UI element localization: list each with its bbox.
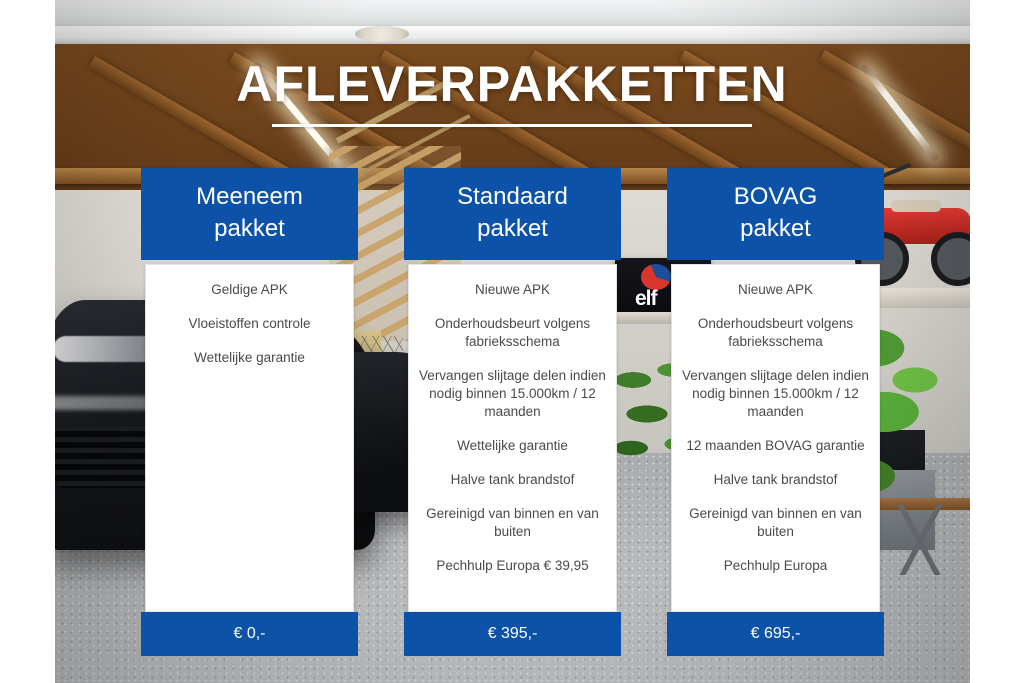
chair-legs xyxy=(887,505,953,575)
feature-item: Wettelijke garantie xyxy=(419,437,606,455)
feature-item: Vervangen slijtage delen indien nodig bi… xyxy=(682,367,869,421)
feature-item: Nieuwe APK xyxy=(682,281,869,299)
package-card-bovag[interactable]: BOVAG pakket Nieuwe APK Onderhoudsbeurt … xyxy=(667,168,884,612)
ceiling-lamp xyxy=(355,26,409,42)
feature-item: Onderhoudsbeurt volgens fabrieksschema xyxy=(682,315,869,351)
package-name-line2: pakket xyxy=(410,213,615,245)
feature-item: Pechhulp Europa xyxy=(682,557,869,575)
feature-item: Vervangen slijtage delen indien nodig bi… xyxy=(419,367,606,421)
package-price-meeneem[interactable]: € 0,- xyxy=(141,612,358,656)
slide-canvas: elf AFLEVERPAKKETTEN xyxy=(0,0,1024,683)
package-header: Meeneem pakket xyxy=(141,168,358,260)
title-underline xyxy=(272,124,752,127)
package-feature-list: Nieuwe APK Onderhoudsbeurt volgens fabri… xyxy=(671,264,880,612)
package-price-bovag[interactable]: € 695,- xyxy=(667,612,884,656)
package-header: Standaard pakket xyxy=(404,168,621,260)
ceiling-edge-beam xyxy=(55,26,970,46)
feature-item: 12 maanden BOVAG garantie xyxy=(682,437,869,455)
feature-item: Nieuwe APK xyxy=(419,281,606,299)
moped-seat xyxy=(891,200,941,212)
package-name-line1: Meeneem xyxy=(147,181,352,213)
package-feature-list: Nieuwe APK Onderhoudsbeurt volgens fabri… xyxy=(408,264,617,612)
feature-item: Halve tank brandstof xyxy=(419,471,606,489)
feature-item: Halve tank brandstof xyxy=(682,471,869,489)
feature-item: Geldige APK xyxy=(156,281,343,299)
package-name-line2: pakket xyxy=(673,213,878,245)
package-card-standaard[interactable]: Standaard pakket Nieuwe APK Onderhoudsbe… xyxy=(404,168,621,612)
feature-item: Onderhoudsbeurt volgens fabrieksschema xyxy=(419,315,606,351)
feature-item: Vloeistoffen controle xyxy=(156,315,343,333)
package-name-line1: Standaard xyxy=(410,181,615,213)
package-name-line1: BOVAG xyxy=(673,181,878,213)
feature-item: Gereinigd van binnen en van buiten xyxy=(419,505,606,541)
feature-item: Gereinigd van binnen en van buiten xyxy=(682,505,869,541)
page-title: AFLEVERPAKKETTEN xyxy=(0,55,1024,113)
elf-sign-text: elf xyxy=(635,287,657,311)
package-price-standaard[interactable]: € 395,- xyxy=(404,612,621,656)
package-header: BOVAG pakket xyxy=(667,168,884,260)
feature-item: Pechhulp Europa € 39,95 xyxy=(419,557,606,575)
package-name-line2: pakket xyxy=(147,213,352,245)
package-feature-list: Geldige APK Vloeistoffen controle Wettel… xyxy=(145,264,354,612)
package-card-meeneem[interactable]: Meeneem pakket Geldige APK Vloeistoffen … xyxy=(141,168,358,612)
feature-item: Wettelijke garantie xyxy=(156,349,343,367)
